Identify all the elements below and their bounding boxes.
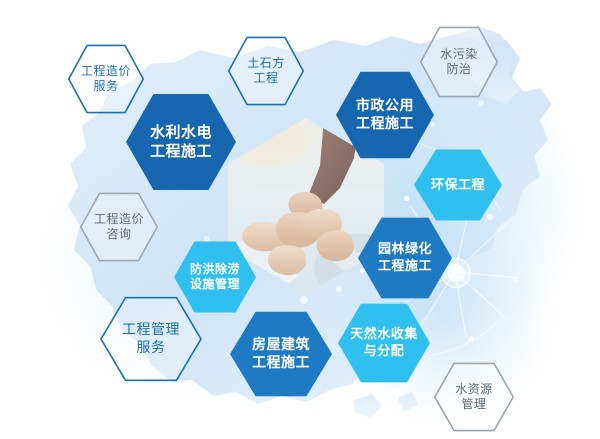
hex-label: 水利水电工程施工 <box>150 123 212 161</box>
hex-label: 房屋建筑工程施工 <box>252 336 310 372</box>
hex-label-line: 园林绿化 <box>378 241 432 258</box>
hex-label-line: 工程管理 <box>122 321 180 339</box>
hex-label-line: 防治 <box>440 62 478 77</box>
hex-label-line: 水利水电 <box>150 123 212 142</box>
hex-label-line: 天然水收集 <box>350 326 418 343</box>
hex-label: 市政公用工程施工 <box>356 97 414 133</box>
hex-engineering-management-service[interactable]: 工程管理服务 <box>100 296 202 382</box>
hex-label: 天然水收集与分配 <box>350 326 418 359</box>
hex-label-line: 设施管理 <box>190 277 240 292</box>
hex-label: 防洪除涝设施管理 <box>190 262 240 293</box>
hex-label-line: 工程施工 <box>252 354 310 372</box>
hex-label: 环保工程 <box>431 177 485 194</box>
network-dot <box>336 286 342 292</box>
hex-label-line: 管理 <box>455 397 493 412</box>
hex-label: 水污染防治 <box>440 47 478 78</box>
hex-label: 水资源管理 <box>455 382 493 413</box>
hex-label: 土石方工程 <box>247 56 285 87</box>
hex-water-pollution-control[interactable]: 水污染防治 <box>420 26 498 98</box>
hex-label: 工程造价咨询 <box>94 212 144 243</box>
hex-label-line: 工程 <box>247 71 285 86</box>
hex-engineering-cost-service[interactable]: 工程造价服务 <box>68 44 144 114</box>
hex-label-line: 服务 <box>122 339 180 357</box>
network-dot <box>404 196 409 201</box>
hex-label-line: 工程造价 <box>81 64 131 79</box>
hex-water-resources-management[interactable]: 水资源管理 <box>434 362 514 432</box>
hex-label-line: 与分配 <box>350 343 418 360</box>
hex-label-line: 市政公用 <box>356 97 414 115</box>
network-dot <box>487 214 493 220</box>
hex-label-line: 房屋建筑 <box>252 336 310 354</box>
network-dot <box>300 296 308 304</box>
hex-earthwork-engineering[interactable]: 土石方工程 <box>228 36 304 106</box>
network-dot <box>204 236 210 242</box>
hex-environmental-protection-engineering[interactable]: 环保工程 <box>414 148 502 222</box>
hex-label-line: 服务 <box>81 79 131 94</box>
hex-label: 园林绿化工程施工 <box>378 241 432 274</box>
network-dot <box>478 100 484 106</box>
hex-label-line: 工程施工 <box>356 115 414 133</box>
network-dot <box>468 336 474 342</box>
infographic-canvas: 工程造价服务土石方工程水污染防治水利水电工程施工市政公用工程施工环保工程工程造价… <box>0 0 600 439</box>
hex-label-line: 水资源 <box>455 382 493 397</box>
network-dot <box>360 268 365 273</box>
hex-label-line: 工程施工 <box>150 142 212 161</box>
hex-label-line: 土石方 <box>247 56 285 71</box>
hex-natural-water-collection-distribution[interactable]: 天然水收集与分配 <box>338 302 430 384</box>
hex-engineering-cost-consulting[interactable]: 工程造价咨询 <box>80 192 158 262</box>
network-dot <box>392 388 401 397</box>
hex-label-line: 环保工程 <box>431 177 485 194</box>
hex-label-line: 防洪除涝 <box>190 262 240 277</box>
hex-label: 工程管理服务 <box>122 321 180 357</box>
hex-building-construction[interactable]: 房屋建筑工程施工 <box>230 310 332 398</box>
network-hub-core <box>447 264 465 282</box>
hex-label-line: 工程造价 <box>94 212 144 227</box>
network-dot <box>430 122 435 127</box>
hex-label-line: 咨询 <box>94 227 144 242</box>
hex-label-line: 水污染 <box>440 47 478 62</box>
hex-label: 工程造价服务 <box>81 64 131 95</box>
network-dot <box>512 276 519 283</box>
hex-label-line: 工程施工 <box>378 258 432 275</box>
